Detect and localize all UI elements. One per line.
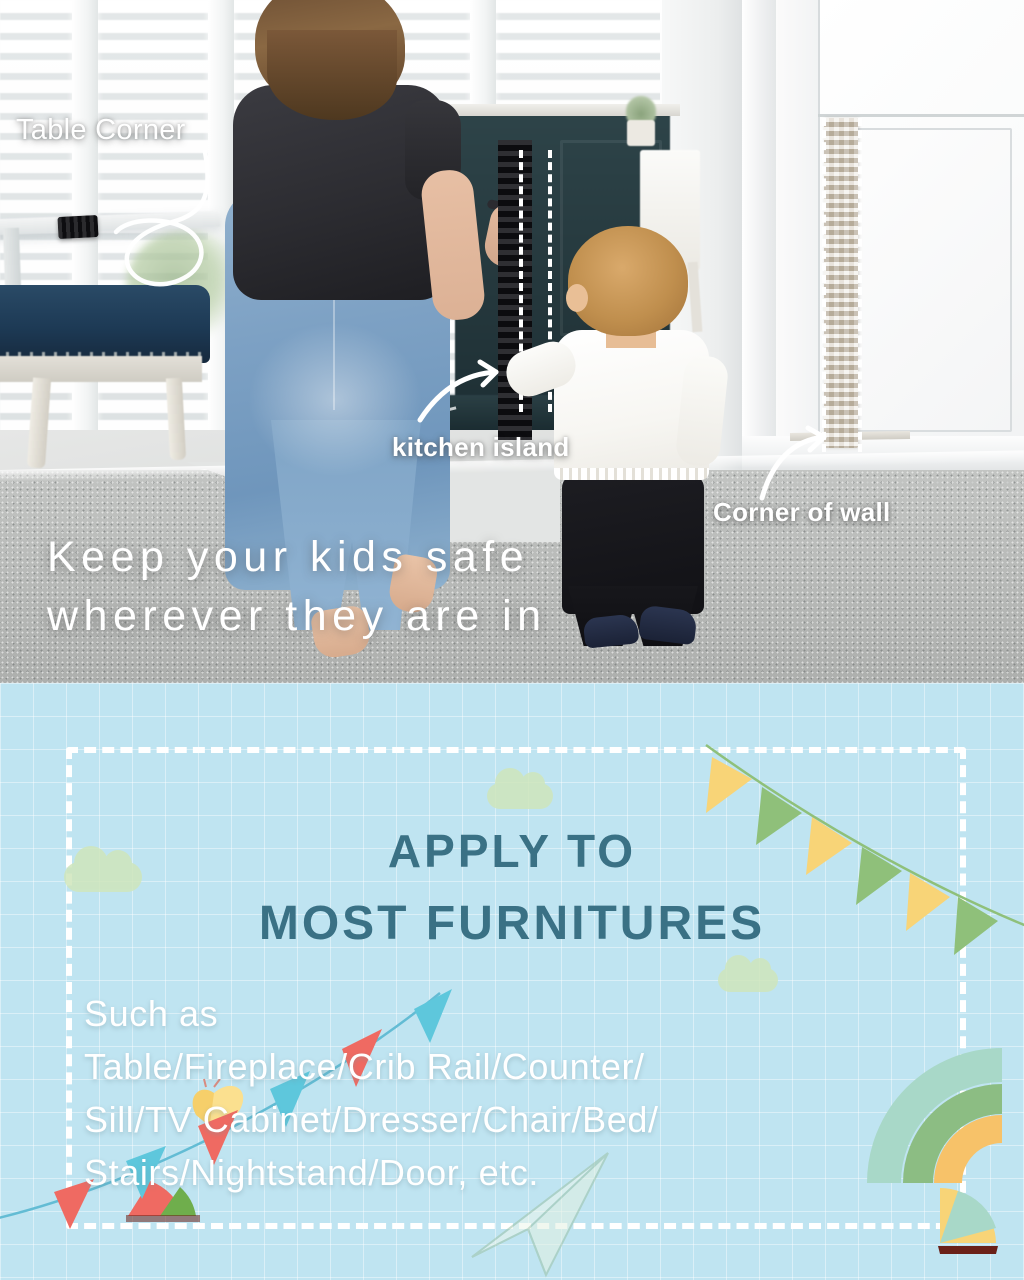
toddler-shoe — [583, 613, 640, 648]
furniture-list-line-1: Such as — [84, 988, 964, 1041]
apply-to-furniture-panel: APPLY TO MOST FURNITURES Such as Table/F… — [0, 683, 1024, 1280]
toddler-ear — [566, 284, 588, 312]
lifestyle-photo: Table Corner kitchen island Corner of wa… — [0, 0, 1024, 683]
wall-corner-guard-product — [824, 118, 858, 448]
panel-heading-line-2: MOST FURNITURES — [0, 896, 1024, 951]
toddler-hair — [568, 226, 688, 336]
dashed-marker-line — [858, 118, 862, 452]
furniture-list-line-4: Stairs/Nightstand/Door, etc. — [84, 1147, 964, 1200]
table-leg — [3, 228, 21, 289]
table-corner-guard-product — [57, 215, 98, 239]
furniture-list: Such as Table/Fireplace/Crib Rail/Counte… — [84, 988, 964, 1200]
wall-corner — [776, 0, 818, 452]
product-listing-image: Table Corner kitchen island Corner of wa… — [0, 0, 1024, 1280]
dashed-marker-line — [822, 118, 826, 452]
furniture-list-line-2: Table/Fireplace/Crib Rail/Counter/ — [84, 1041, 964, 1094]
callout-table-corner: Table Corner — [16, 114, 186, 147]
mother-hair — [267, 30, 397, 120]
headline: Keep your kids safe wherever they are in — [47, 528, 547, 647]
plant-pot — [627, 120, 655, 146]
door-panel-inset — [848, 128, 1012, 432]
callout-kitchen-island: kitchen island — [392, 432, 570, 463]
headline-line-2: wherever they are in — [47, 587, 547, 646]
callout-corner-of-wall: Corner of wall — [713, 497, 891, 528]
furniture-list-line-3: Sill/TV Cabinet/Dresser/Chair/Bed/ — [84, 1094, 964, 1147]
toddler-figure — [548, 226, 728, 646]
door-panel-line — [818, 114, 1024, 117]
door-jamb — [742, 0, 776, 478]
toddler-shirt-hem — [554, 468, 709, 480]
cloud-icon — [487, 783, 553, 809]
headline-line-1: Keep your kids safe — [47, 528, 547, 587]
panel-heading-line-1: APPLY TO — [0, 824, 1024, 878]
